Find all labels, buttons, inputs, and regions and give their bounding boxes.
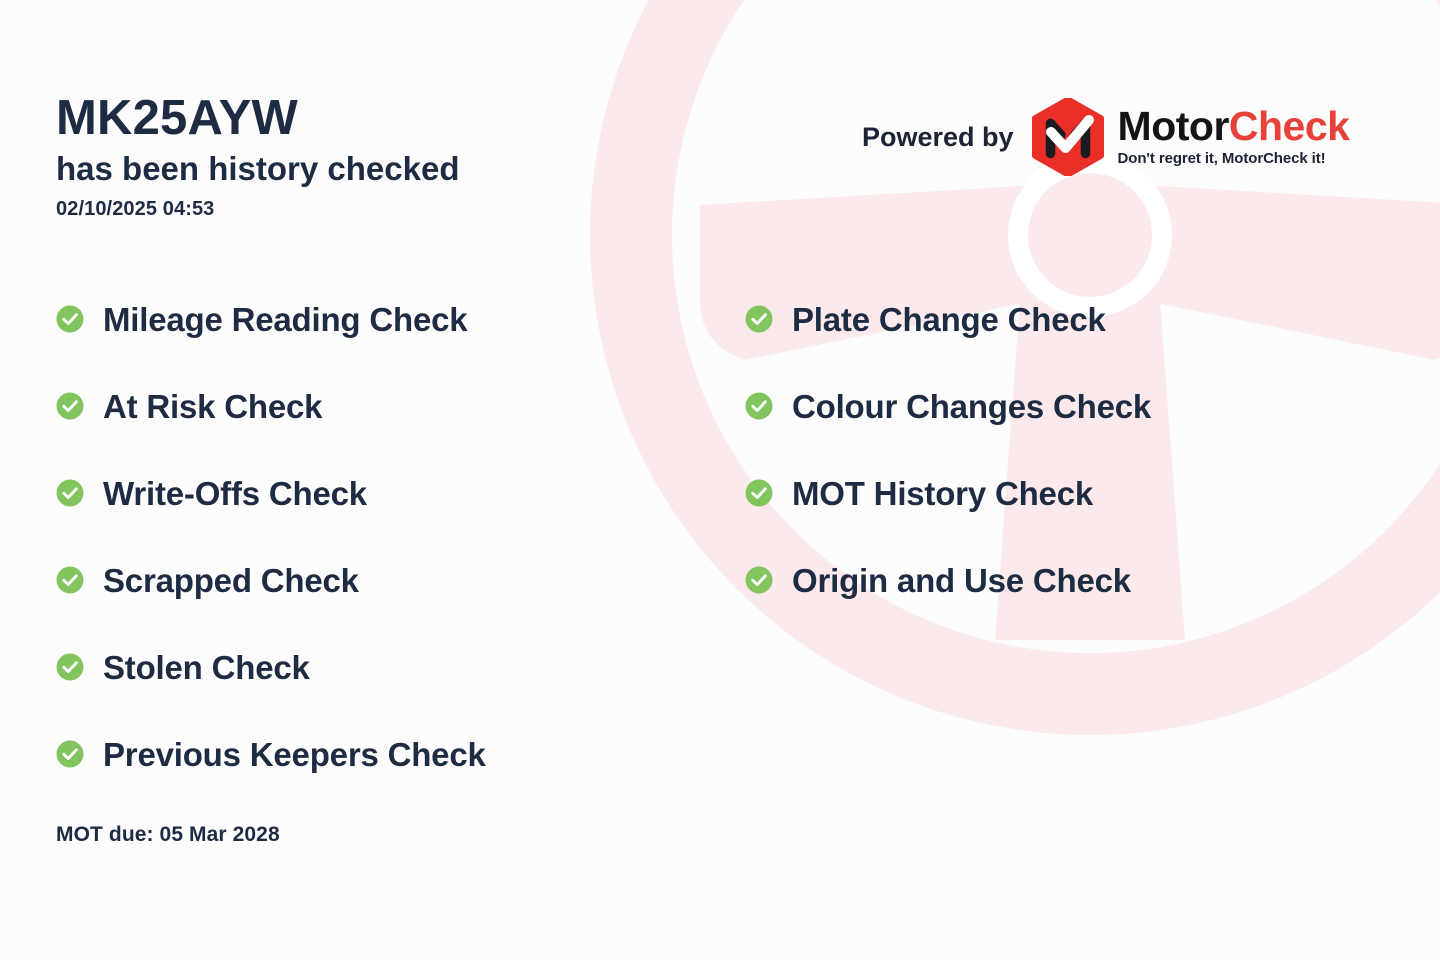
check-item: MOT History Check <box>745 472 1151 514</box>
check-timestamp: 02/10/2025 04:53 <box>56 198 460 221</box>
check-circle-icon <box>745 305 773 333</box>
check-item: Stolen Check <box>56 646 486 688</box>
check-circle-icon <box>56 566 84 594</box>
check-label: At Risk Check <box>103 390 322 423</box>
check-label: Plate Change Check <box>792 303 1106 336</box>
check-circle-icon <box>56 479 84 507</box>
check-item: Mileage Reading Check <box>56 298 486 340</box>
check-item: Colour Changes Check <box>745 385 1151 427</box>
check-label: Colour Changes Check <box>792 390 1151 423</box>
checks-left-column: Mileage Reading Check At Risk Check Writ… <box>56 298 486 775</box>
check-circle-icon <box>745 566 773 594</box>
brand-wordmark-block: MotorCheck Don't regret it, MotorCheck i… <box>1118 107 1350 167</box>
header-subtitle: has been history checked <box>56 149 460 189</box>
check-item: Origin and Use Check <box>745 559 1151 601</box>
motorcheck-hexagon-icon <box>1032 98 1104 176</box>
check-label: Stolen Check <box>103 651 310 684</box>
checks-right-column: Plate Change Check Colour Changes Check … <box>745 298 1151 601</box>
vehicle-header: MK25AYW has been history checked 02/10/2… <box>56 93 460 221</box>
check-item: Write-Offs Check <box>56 472 486 514</box>
hexagon-shape <box>1035 100 1101 175</box>
brand-bar: Powered by MotorCheck Don't regret it, <box>862 98 1349 176</box>
report-content: MK25AYW has been history checked 02/10/2… <box>0 0 1440 960</box>
motorcheck-logo[interactable]: MotorCheck Don't regret it, MotorCheck i… <box>1032 98 1350 176</box>
check-label: Mileage Reading Check <box>103 303 467 336</box>
check-circle-icon <box>56 305 84 333</box>
check-label: Scrapped Check <box>103 564 359 597</box>
check-circle-icon <box>56 653 84 681</box>
check-item: At Risk Check <box>56 385 486 427</box>
check-item: Scrapped Check <box>56 559 486 601</box>
registration-plate: MK25AYW <box>56 93 460 145</box>
check-label: Origin and Use Check <box>792 564 1131 597</box>
wordmark-check: Check <box>1229 103 1350 149</box>
brand-wordmark: MotorCheck <box>1118 107 1350 146</box>
wordmark-motor: Motor <box>1118 103 1229 149</box>
check-circle-icon <box>745 392 773 420</box>
powered-by-label: Powered by <box>862 122 1014 153</box>
check-circle-icon <box>56 392 84 420</box>
mot-due-line: MOT due: 05 Mar 2028 <box>56 823 280 847</box>
check-item: Previous Keepers Check <box>56 733 486 775</box>
brand-tagline: Don't regret it, MotorCheck it! <box>1118 150 1350 167</box>
check-label: Write-Offs Check <box>103 477 367 510</box>
check-circle-icon <box>56 740 84 768</box>
check-circle-icon <box>745 479 773 507</box>
check-item: Plate Change Check <box>745 298 1151 340</box>
check-label: Previous Keepers Check <box>103 738 486 771</box>
check-label: MOT History Check <box>792 477 1093 510</box>
